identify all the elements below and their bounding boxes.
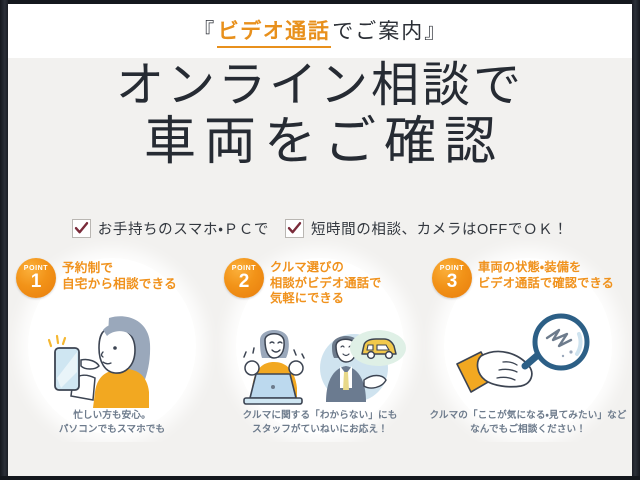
- panel-header-2: POINT 2 クルマ選びの 相談がビデオ通話で 気軽にできる: [224, 258, 420, 307]
- panel-header-1: POINT 1 予約制で 自宅から相談できる: [16, 258, 212, 298]
- point-badge-number: 2: [239, 272, 250, 291]
- header-title: 『 ビデオ通話 でご案内 』: [193, 15, 447, 48]
- point-badge-2: POINT 2: [224, 258, 264, 298]
- screenshot-stage: 『 ビデオ通話 でご案内 』 オンライン相談で 車両をご確認 お手持ちのスマホ・…: [0, 0, 640, 480]
- point-caption-2: クルマに関する「わからない」にも スタッフがていねいにお応え！: [218, 409, 422, 436]
- point-caption-1: 忙しい方も安心。 パソコンでもスマホでも: [10, 409, 214, 436]
- checklist-item-2: 短時間の相談、カメラはOFFでＯＫ！: [285, 218, 568, 239]
- point-badge-number: 1: [31, 272, 42, 291]
- hero-line-1: オンライン相談で: [8, 60, 632, 112]
- panel-header-3: POINT 3 車両の状態・装備を ビデオ通話で確認できる: [432, 258, 628, 298]
- checklist-item-1: お手持ちのスマホ・ＰＣで: [72, 218, 269, 239]
- hero-headline: オンライン相談で 車両をご確認: [8, 60, 632, 170]
- header-band: 『 ビデオ通話 でご案内 』: [8, 4, 632, 58]
- checklist-label-2: 短時間の相談、カメラはOFFでＯＫ！: [311, 218, 568, 239]
- hero-line-2: 車両をご確認: [8, 114, 632, 170]
- frame-right-border: [632, 0, 640, 480]
- point-panel-2: POINT 2 クルマ選びの 相談がビデオ通話で 気軽にできる: [216, 252, 424, 452]
- checklist-label-1: お手持ちのスマホ・ＰＣで: [98, 218, 269, 239]
- point-panel-3: POINT 3 車両の状態・装備を ビデオ通話で確認できる: [424, 252, 632, 452]
- point-title-1: 予約制で 自宅から相談できる: [62, 258, 177, 292]
- check-icon: [72, 219, 91, 238]
- bracket-close-icon: 』: [424, 15, 447, 45]
- point-panels: POINT 1 予約制で 自宅から相談できる: [8, 252, 632, 452]
- point-panel-1: POINT 1 予約制で 自宅から相談できる: [8, 252, 216, 452]
- hand-holding-magnifier-icon: [424, 300, 632, 408]
- advertisement-poster: 『 ビデオ通話 でご案内 』 オンライン相談で 車両をご確認 お手持ちのスマホ・…: [8, 4, 632, 476]
- point-badge-3: POINT 3: [432, 258, 472, 298]
- frame-bottom-border: [0, 476, 640, 480]
- point-title-3: 車両の状態・装備を ビデオ通話で確認できる: [478, 258, 614, 291]
- point-title-2: クルマ選びの 相談がビデオ通話で 気軽にできる: [270, 258, 382, 307]
- header-rest-text: でご案内: [332, 15, 424, 45]
- point-caption-3: クルマの「ここが気になる・見てみたい」など なんでもご相談ください！: [426, 409, 630, 436]
- frame-left-border: [0, 0, 8, 480]
- woman-laptop-and-staff-with-car-icon: [216, 300, 424, 408]
- header-highlight-text: ビデオ通話: [217, 15, 332, 48]
- bottom-strip: [8, 442, 632, 476]
- bracket-open-icon: 『: [193, 15, 216, 45]
- point-badge-number: 3: [447, 272, 458, 291]
- checklist-row: お手持ちのスマホ・ＰＣで 短時間の相談、カメラはOFFでＯＫ！: [8, 218, 632, 239]
- point-badge-1: POINT 1: [16, 258, 56, 298]
- check-icon: [285, 219, 304, 238]
- woman-with-smartphone-icon: [8, 300, 216, 408]
